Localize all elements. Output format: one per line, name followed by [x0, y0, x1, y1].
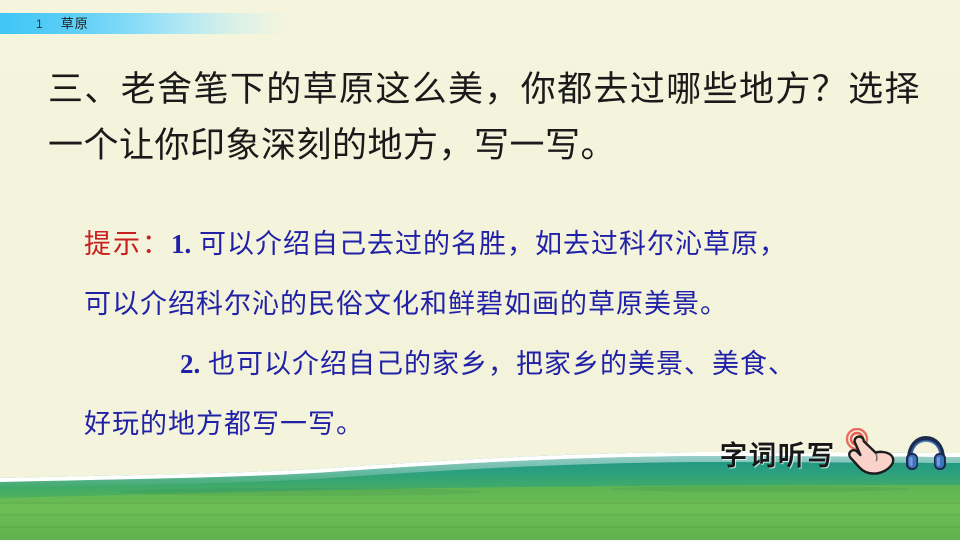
hint-line-3: 2. 也可以介绍自己的家乡，把家乡的美景、美食、: [84, 334, 904, 394]
hint-item-2-number: 2.: [180, 349, 200, 379]
hint-item-1-line-2: 可以介绍科尔沁的民俗文化和鲜碧如画的草原美景。: [84, 289, 728, 319]
hint-line-2: 可以介绍科尔沁的民俗文化和鲜碧如画的草原美景。: [84, 274, 904, 334]
headphones-icon[interactable]: [904, 432, 948, 474]
question-text: 三、老舍笔下的草原这么美，你都去过哪些地方？选择一个让你印象深刻的地方，写一写。: [48, 62, 920, 174]
hint-item-2-line-1: 也可以介绍自己的家乡，把家乡的美景、美食、: [208, 349, 796, 379]
hint-item-1-line-1: 可以介绍自己去过的名胜，如去过科尔沁草原，: [199, 229, 787, 259]
chapter-header-bar: 1 草原: [0, 13, 290, 34]
dictation-label: 字词听写: [720, 434, 836, 473]
hint-label: 提示：: [84, 229, 171, 259]
chapter-title: 草原: [61, 17, 89, 30]
hint-item-2-line-2: 好玩的地方都写一写。: [84, 409, 364, 439]
chapter-number: 1: [36, 18, 43, 30]
hint-block: 提示：1. 可以介绍自己去过的名胜，如去过科尔沁草原， 可以介绍科尔沁的民俗文化…: [84, 214, 904, 454]
slide-canvas: 1 草原 三、老舍笔下的草原这么美，你都去过哪些地方？选择一个让你印象深刻的地方…: [0, 0, 960, 540]
dictation-button[interactable]: 字词听写: [720, 428, 948, 478]
pointing-hand-click-icon[interactable]: [842, 428, 898, 478]
hint-item-1-number: 1.: [171, 229, 191, 259]
hint-line-1: 提示：1. 可以介绍自己去过的名胜，如去过科尔沁草原，: [84, 214, 904, 274]
